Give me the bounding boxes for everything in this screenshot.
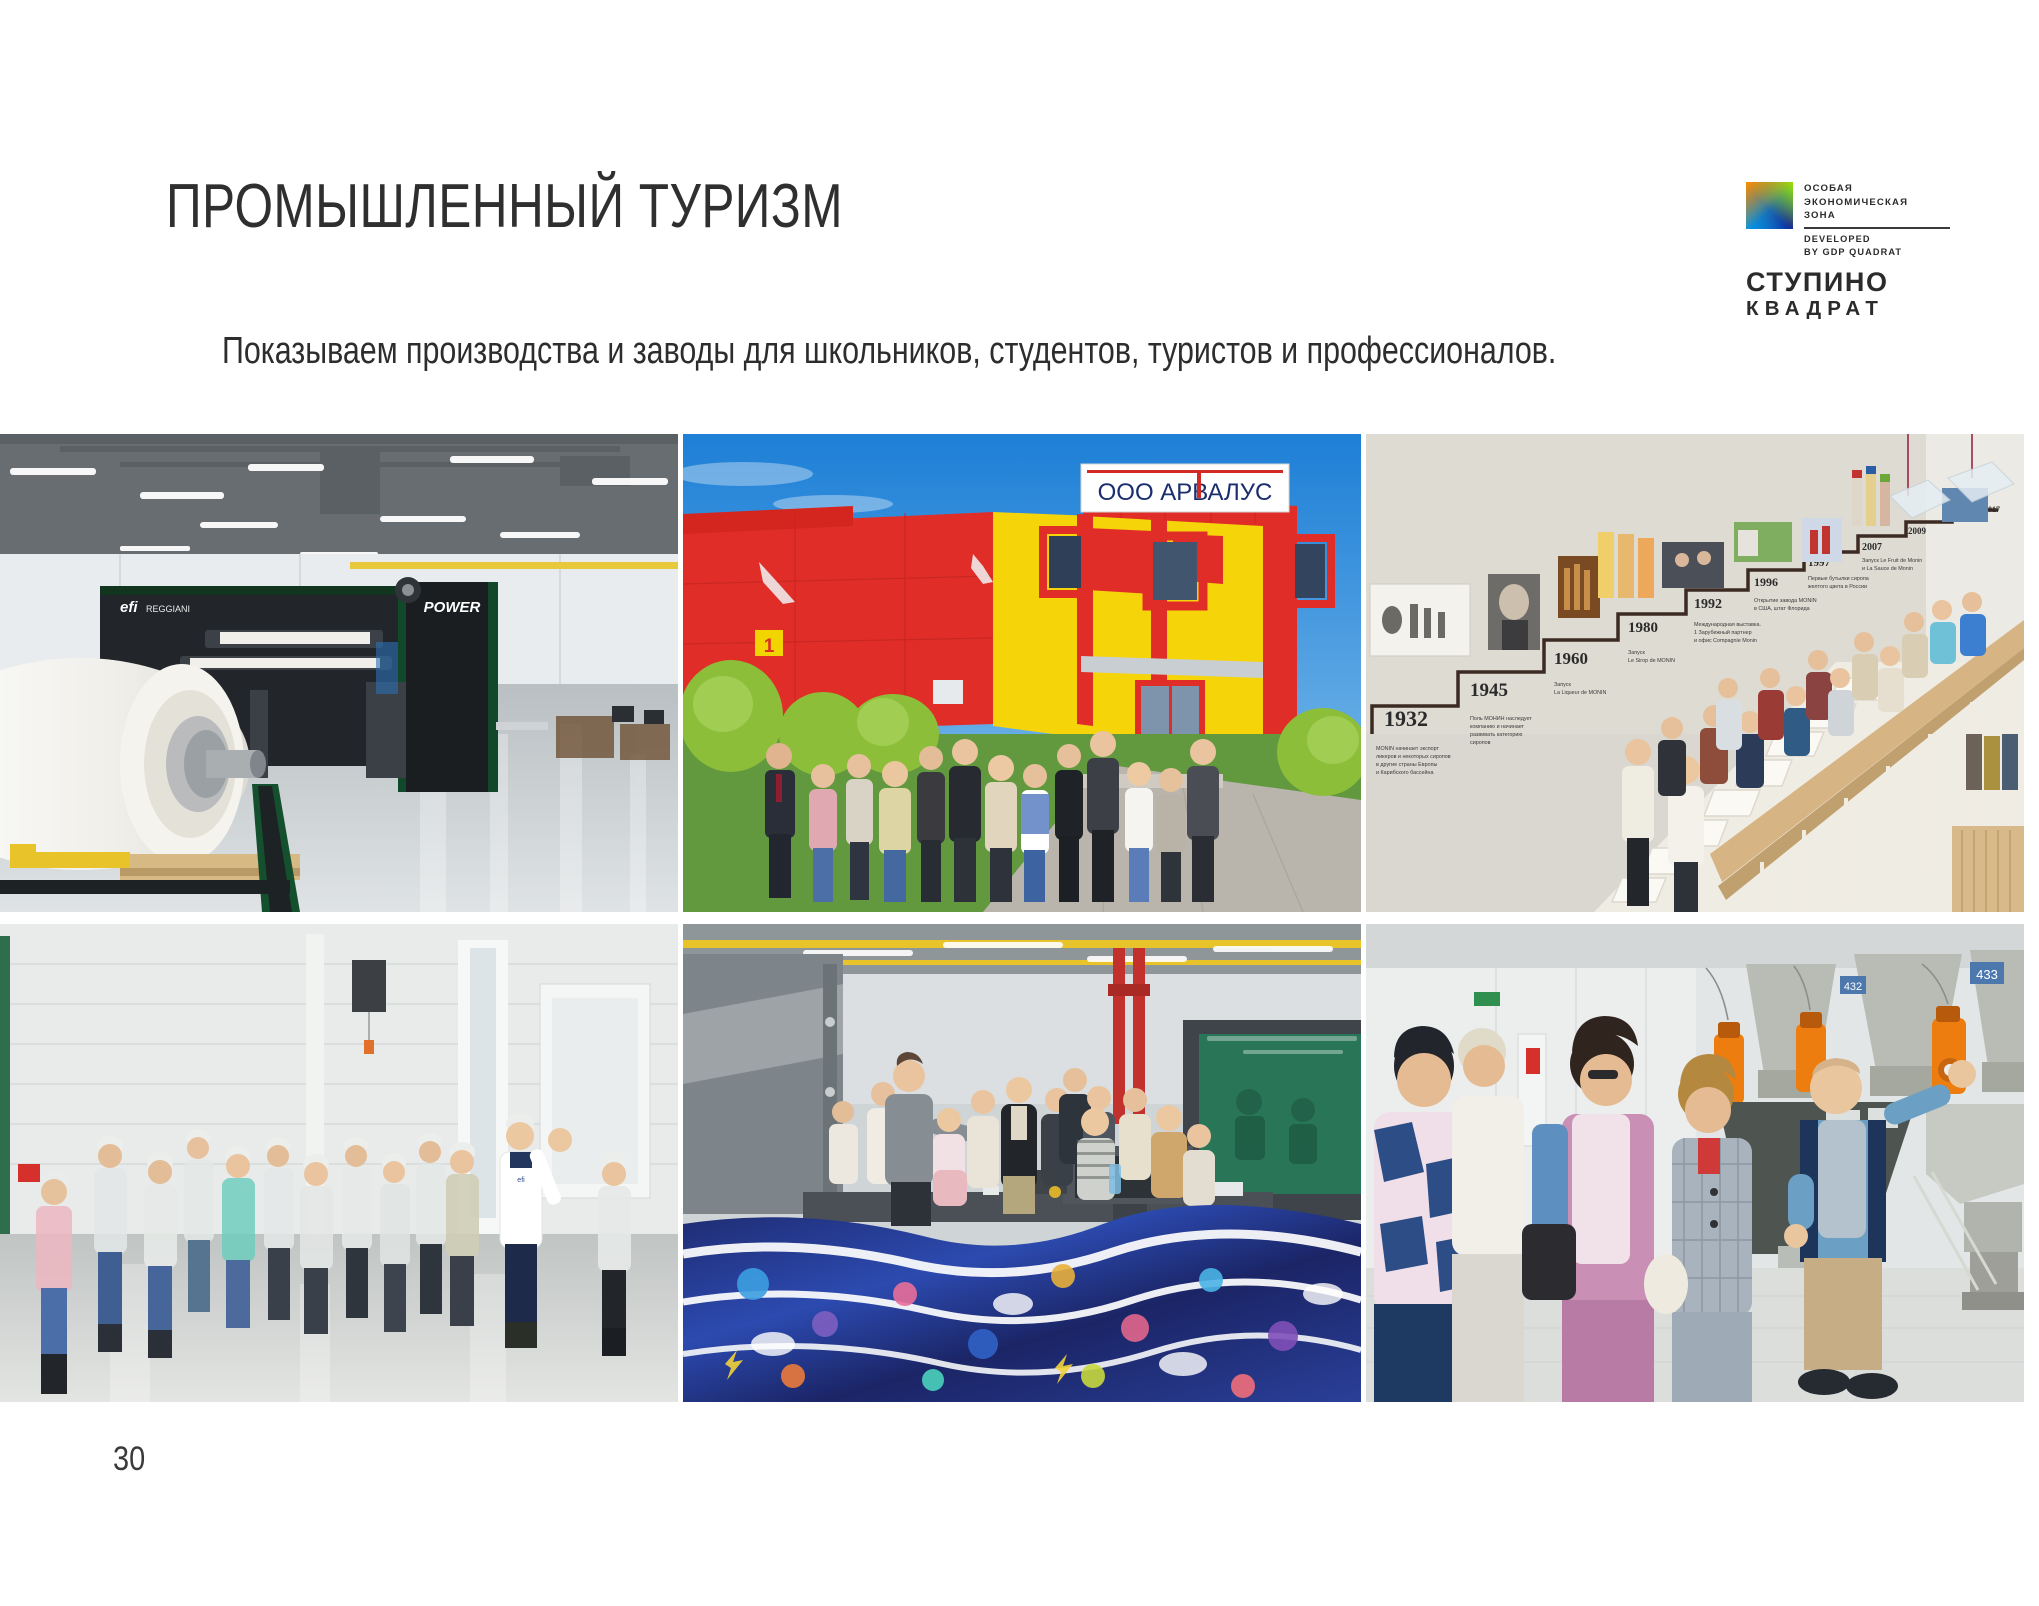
svg-text:и La Sauce de Monin: и La Sauce de Monin [1862, 566, 1913, 572]
svg-text:2009: 2009 [1908, 526, 1927, 536]
gallery-photo-hygiene-tour: efi [0, 924, 678, 1402]
svg-text:1960: 1960 [1554, 649, 1588, 668]
svg-text:компанию и начинает: компанию и начинает [1470, 724, 1525, 730]
svg-text:Запуск Le Fruit de Monin: Запуск Le Fruit de Monin [1862, 558, 1922, 564]
gallery-photo-textile-printing-hall: efi REGGIANI POWER [0, 434, 678, 912]
svg-text:1980: 1980 [1628, 620, 1658, 636]
svg-text:1992: 1992 [1694, 597, 1722, 612]
svg-text:ООО АРВАЛУС: ООО АРВАЛУС [1098, 479, 1273, 506]
svg-text:efi: efi [120, 599, 138, 616]
svg-text:POWER: POWER [424, 599, 481, 616]
svg-text:развивать категорию: развивать категорию [1470, 732, 1522, 738]
svg-text:желтого цвета в России: желтого цвета в России [1808, 584, 1867, 590]
svg-text:1932: 1932 [1384, 706, 1428, 731]
page-title: ПРОМЫШЛЕННЫЙ ТУРИЗМ [166, 176, 843, 238]
gallery-photo-arvalus-building: 1 [683, 434, 1361, 912]
logo-top-row: ОСОБАЯ ЭКОНОМИЧЕСКАЯ ЗОНА DEVELOPED BY G… [1746, 182, 2016, 259]
photo-illustration: 432 433 [1366, 924, 2024, 1402]
svg-text:и офис Compagnie Monin: и офис Compagnie Monin [1694, 638, 1757, 644]
svg-text:сиропов: сиропов [1470, 740, 1491, 746]
svg-text:ликеров и некоторых сиропов: ликеров и некоторых сиропов [1376, 754, 1451, 760]
logo-brand-gdp: GDP QUADRAT [1822, 247, 1902, 257]
svg-text:и Карибского бассейна: и Карибского бассейна [1376, 769, 1433, 776]
logo-developed-by: BY GDP QUADRAT [1804, 246, 1950, 259]
svg-text:efi: efi [517, 1177, 525, 1184]
svg-text:в другие страны Европы: в другие страны Европы [1376, 762, 1437, 768]
svg-text:433: 433 [1976, 967, 1998, 982]
logo-brand-line-1: СТУПИНО [1746, 268, 2016, 297]
svg-text:1: 1 [764, 636, 775, 657]
svg-text:Поль МОНИН наследует: Поль МОНИН наследует [1470, 716, 1532, 722]
photo-gallery-grid: efi REGGIANI POWER [0, 434, 2020, 1410]
photo-illustration: efi [0, 924, 678, 1402]
svg-text:432: 432 [1844, 981, 1862, 993]
svg-text:Международная выставка.: Международная выставка. [1694, 622, 1761, 628]
gallery-photo-silos-tour: 432 433 [1366, 924, 2024, 1402]
logo-divider [1804, 227, 1950, 229]
svg-text:Le Sirop de MONIN: Le Sirop de MONIN [1628, 658, 1675, 664]
svg-text:1996: 1996 [1754, 575, 1778, 589]
svg-text:1 Зарубежный партнер: 1 Зарубежный партнер [1694, 629, 1752, 636]
logo-brand-line-2: КВАДРАТ [1746, 297, 2016, 321]
svg-text:1945: 1945 [1470, 680, 1508, 701]
logo-text-block: ОСОБАЯ ЭКОНОМИЧЕСКАЯ ЗОНА DEVELOPED BY G… [1804, 182, 1950, 259]
slide-root: ПРОМЫШЛЕННЫЙ ТУРИЗМ Показываем производс… [0, 0, 2039, 1606]
gallery-photo-monin-staircase: 1932 1945 1960 1980 1992 1996 1997 2007 … [1366, 434, 2024, 912]
logo-line-1: ОСОБАЯ [1804, 182, 1950, 196]
logo-line-3: ЗОНА [1804, 209, 1950, 223]
page-number: 30 [113, 1440, 145, 1479]
brand-logo: ОСОБАЯ ЭКОНОМИЧЕСКАЯ ЗОНА DEVELOPED BY G… [1746, 182, 2016, 302]
svg-text:REGGIANI: REGGIANI [146, 604, 190, 614]
svg-text:в США, штат Флорида: в США, штат Флорида [1754, 606, 1810, 612]
svg-text:Открытие завода MONIN: Открытие завода MONIN [1754, 598, 1817, 604]
svg-text:La Liqueur de MONIN: La Liqueur de MONIN [1554, 690, 1607, 696]
svg-text:MONIN начинает экспорт: MONIN начинает экспорт [1376, 746, 1440, 752]
logo-line-2: ЭКОНОМИЧЕСКАЯ [1804, 196, 1950, 210]
gallery-photo-digital-print-fabric [683, 924, 1361, 1402]
logo-developed-label: DEVELOPED [1804, 233, 1950, 246]
photo-illustration [683, 924, 1361, 1402]
photo-illustration: 1932 1945 1960 1980 1992 1996 1997 2007 … [1366, 434, 2024, 912]
svg-text:Запуск: Запуск [1628, 650, 1646, 656]
page-subtitle: Показываем производства и заводы для шко… [222, 331, 1556, 373]
svg-text:2007: 2007 [1862, 542, 1882, 553]
svg-text:Запуск: Запуск [1554, 682, 1572, 688]
logo-by-word: BY [1804, 247, 1822, 257]
gradient-square-icon [1746, 182, 1793, 229]
photo-illustration: 1 [683, 434, 1361, 912]
photo-illustration: efi REGGIANI POWER [0, 434, 678, 912]
svg-text:Первые бутылки сиропа: Первые бутылки сиропа [1808, 576, 1869, 582]
